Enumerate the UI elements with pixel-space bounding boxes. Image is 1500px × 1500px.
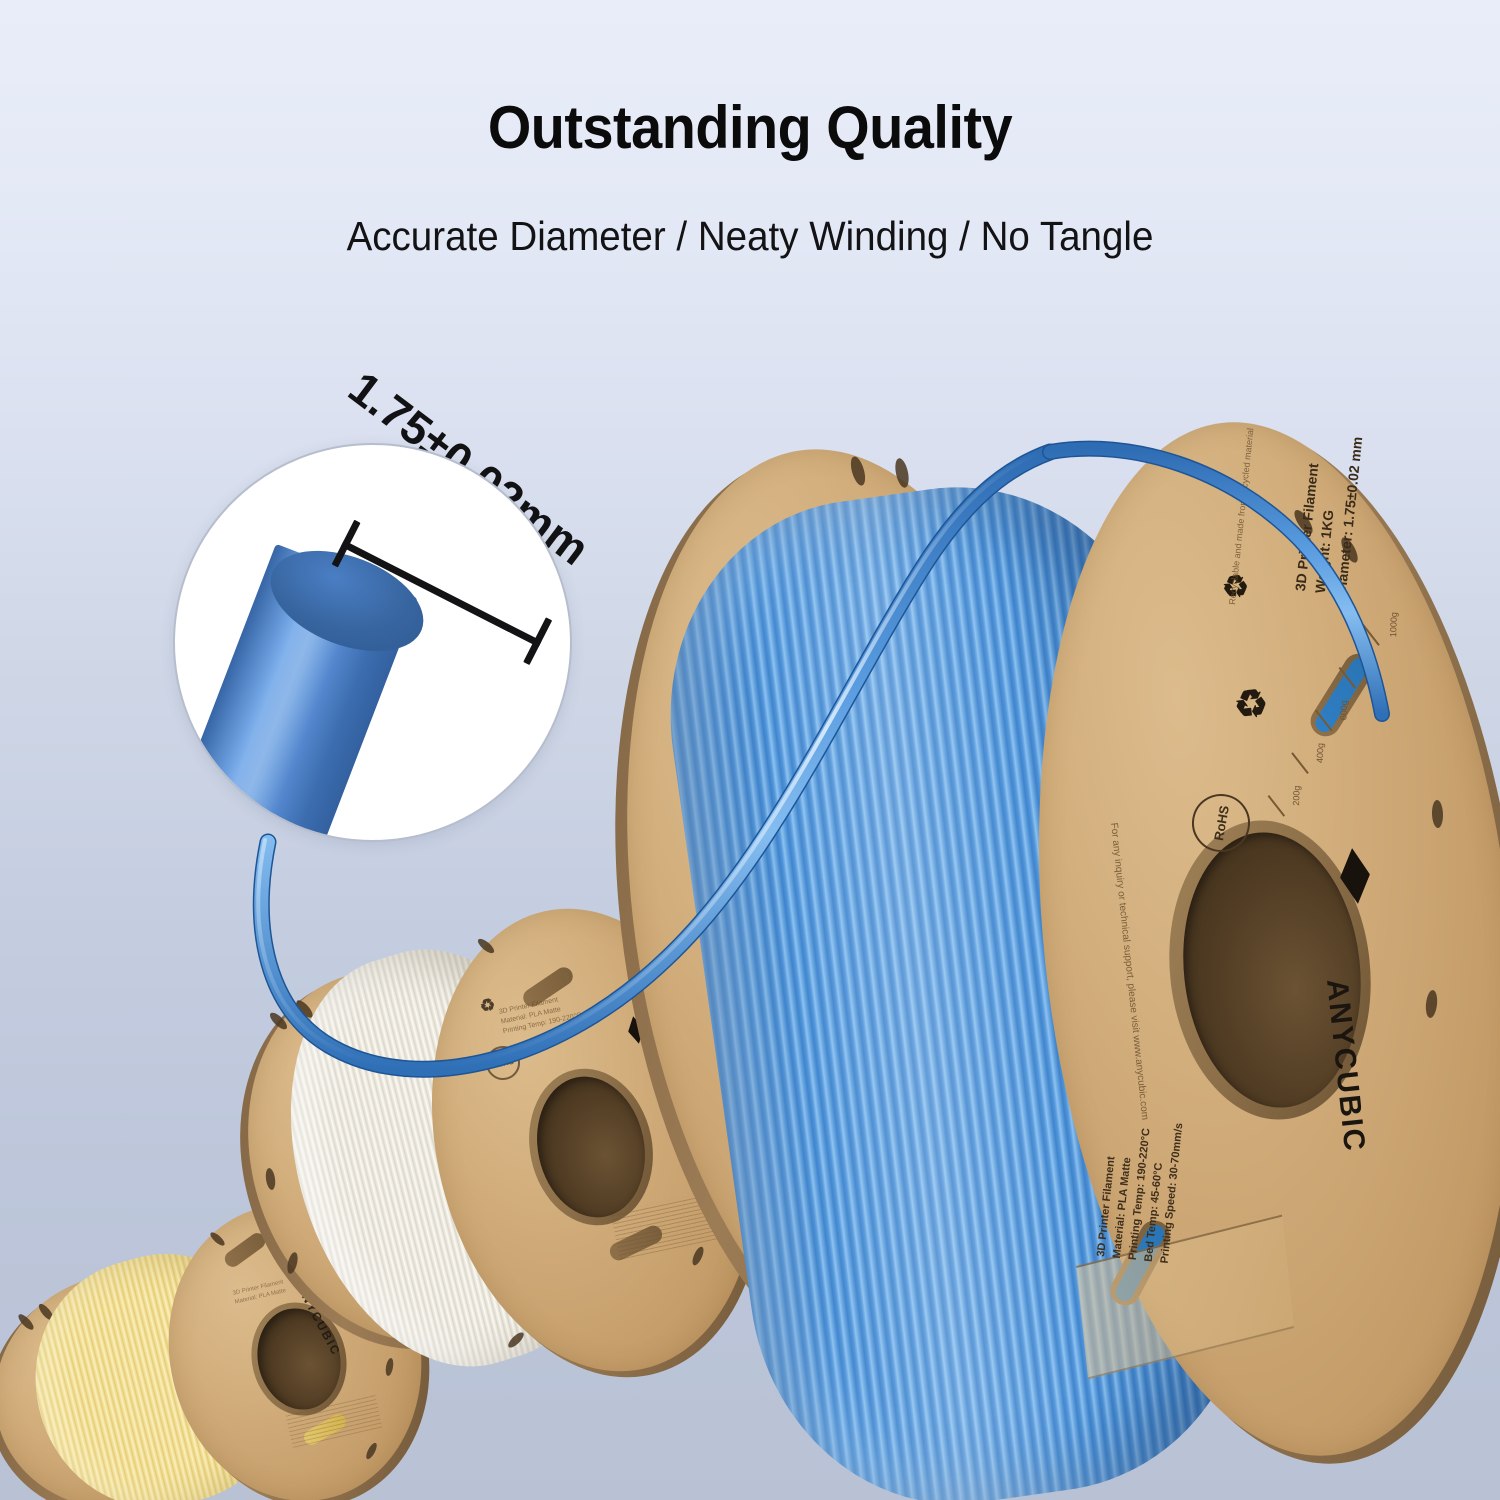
blue-spool-side-label: 3D Printer Filament Material: PLA Matte … [1094, 1116, 1188, 1265]
recycle-icon: ♻ [1232, 680, 1271, 728]
blue-spool: ANYCUBIC 3D Printer Filament Weight: 1KG… [600, 390, 1500, 1500]
tick-label: 200g [1291, 786, 1302, 806]
tick-label: 400g [1315, 743, 1326, 763]
filament-cross-section [175, 445, 570, 840]
magnifier-circle [173, 443, 572, 842]
product-feature-image: Outstanding Quality Accurate Diameter / … [0, 0, 1500, 1500]
page-title: Outstanding Quality [53, 93, 1448, 162]
tick-label: 600g [1338, 700, 1349, 720]
tick-label: 1000g [1388, 612, 1399, 637]
page-subtitle: Accurate Diameter / Neaty Winding / No T… [45, 213, 1455, 260]
tick-label: 800g [1362, 657, 1373, 677]
